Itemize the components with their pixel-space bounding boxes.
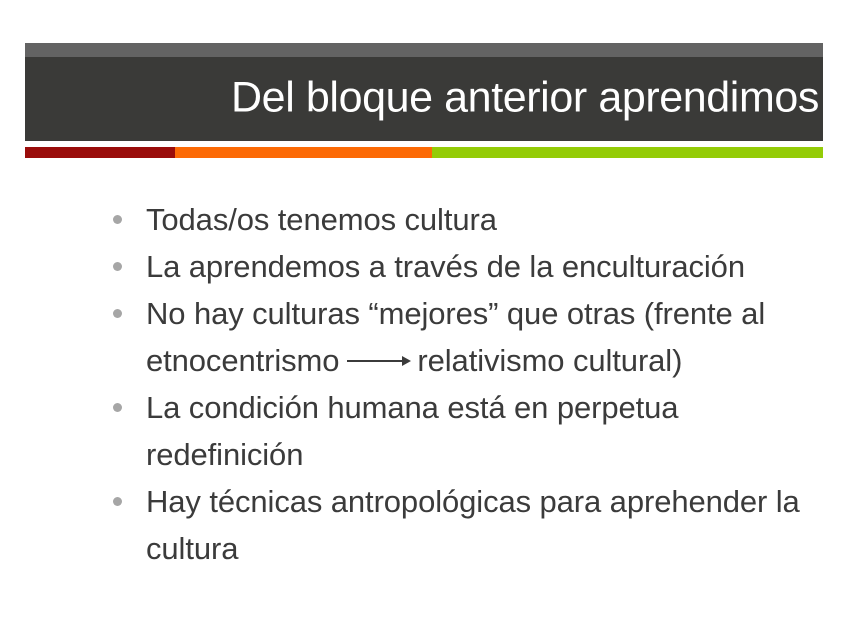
- bullet-dot-icon: [113, 215, 122, 224]
- bullet-text: Hay técnicas antropológicas para aprehen…: [146, 484, 800, 566]
- title-bar: Del bloque anterior aprendimos: [25, 57, 823, 141]
- accent-green-segment: [432, 147, 823, 158]
- list-item: Todas/os tenemos cultura: [108, 196, 828, 243]
- bullet-text: La aprendemos a través de la enculturaci…: [146, 249, 745, 284]
- bullet-dot-icon: [113, 497, 122, 506]
- list-item: No hay culturas “mejores” que otras (fre…: [108, 290, 828, 384]
- list-item: Hay técnicas antropológicas para aprehen…: [108, 478, 828, 572]
- slide-body-bullet-list: Todas/os tenemos cultura La aprendemos a…: [108, 196, 828, 572]
- title-top-band: [25, 43, 823, 57]
- arrow-right-icon: [347, 354, 411, 368]
- slide-title-block: Del bloque anterior aprendimos: [25, 43, 823, 141]
- bullet-text: Todas/os tenemos cultura: [146, 202, 497, 237]
- accent-orange-segment: [175, 147, 432, 158]
- list-item: La aprendemos a través de la enculturaci…: [108, 243, 828, 290]
- page-title: Del bloque anterior aprendimos: [231, 77, 819, 120]
- slide-canvas: Del bloque anterior aprendimos Todas/os …: [0, 0, 848, 636]
- bullet-dot-icon: [113, 403, 122, 412]
- bullet-text-after-arrow: relativismo cultural): [417, 343, 682, 378]
- accent-red-segment: [25, 147, 175, 158]
- bullet-dot-icon: [113, 262, 122, 271]
- accent-color-strip: [25, 147, 823, 158]
- bullet-dot-icon: [113, 309, 122, 318]
- bullet-text: La condición humana está en perpetua red…: [146, 390, 678, 472]
- list-item: La condición humana está en perpetua red…: [108, 384, 828, 478]
